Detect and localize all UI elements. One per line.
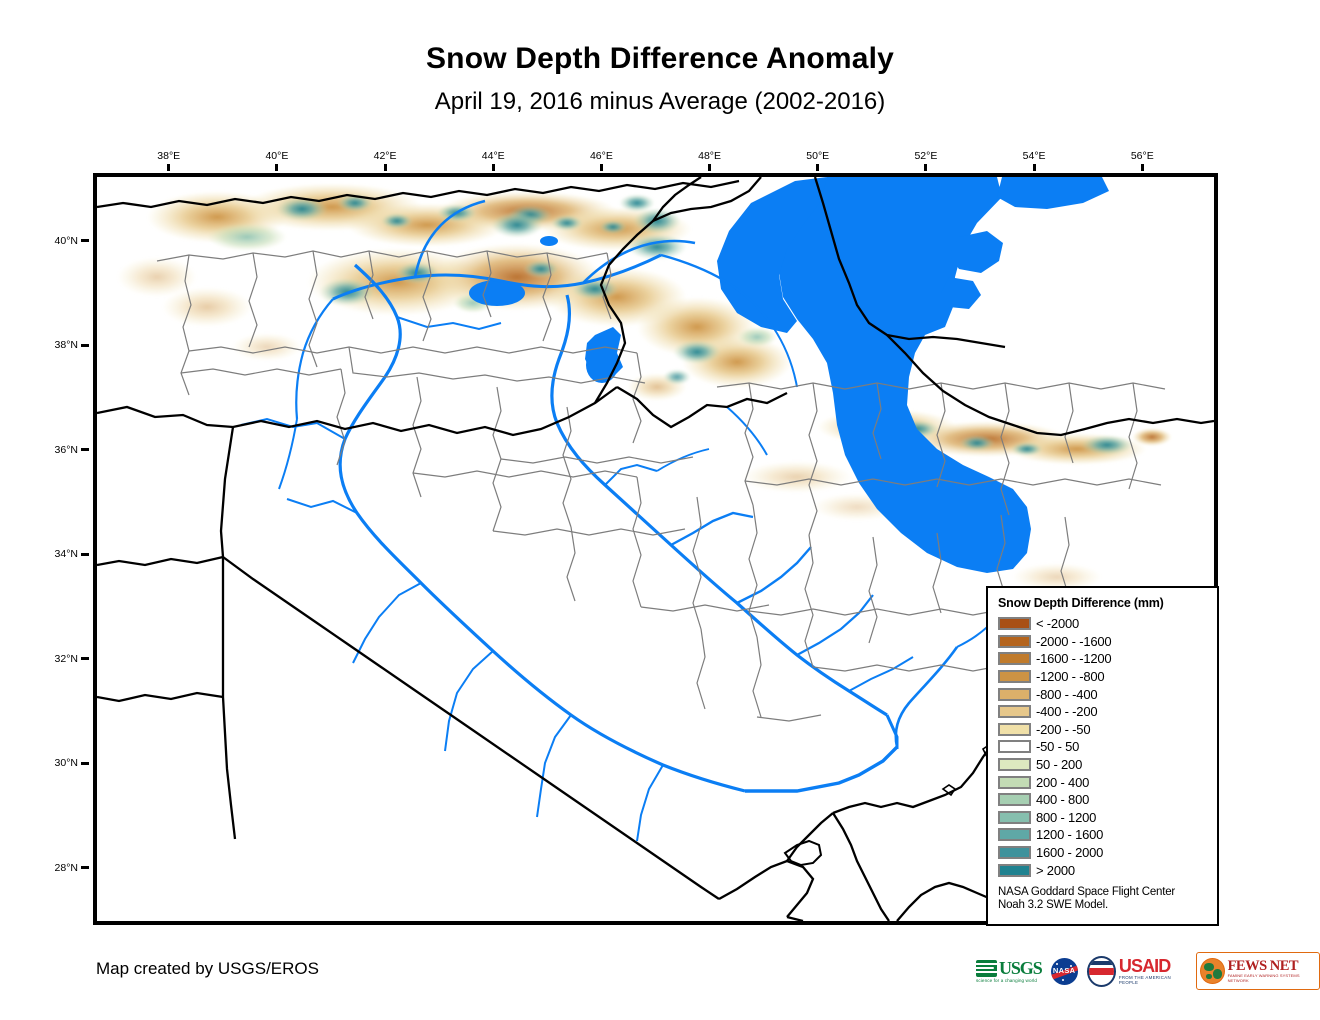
legend-row: 50 - 200: [998, 756, 1209, 774]
legend-swatch: [998, 705, 1031, 718]
lat-tick: 36°N: [37, 444, 89, 456]
lon-tick-label: 40°E: [254, 151, 300, 162]
nasa-meatball-icon: NASA: [1051, 958, 1078, 985]
legend-row: > 2000: [998, 861, 1209, 879]
legend-row: 400 - 800: [998, 791, 1209, 809]
lat-tick: 40°N: [37, 235, 89, 247]
legend-swatch: [998, 617, 1031, 630]
legend-row: < -2000: [998, 615, 1209, 633]
legend-swatch: [998, 864, 1031, 877]
usgs-logo: USGS science for a changing world: [976, 954, 1042, 988]
legend-class-list: < -2000-2000 - -1600-1600 - -1200-1200 -…: [998, 615, 1209, 879]
legend-swatch: [998, 828, 1031, 841]
legend-label: > 2000: [1036, 863, 1075, 878]
lon-tick-mark: [275, 164, 278, 171]
lat-tick-label: 36°N: [55, 444, 78, 456]
lat-tick: 32°N: [37, 653, 89, 665]
legend-title: Snow Depth Difference (mm): [998, 596, 1209, 610]
lat-tick-mark: [81, 657, 89, 660]
lon-tick: 54°E: [1011, 151, 1057, 171]
legend-swatch: [998, 635, 1031, 648]
lon-tick: 50°E: [795, 151, 841, 171]
nasa-wordmark: NASA: [1051, 966, 1078, 975]
legend-swatch: [998, 811, 1031, 824]
lon-tick-label: 56°E: [1119, 151, 1165, 162]
legend-row: -2000 - -1600: [998, 633, 1209, 651]
lat-tick: 30°N: [37, 757, 89, 769]
lat-tick-mark: [81, 866, 89, 869]
lon-tick-mark: [924, 164, 927, 171]
lat-tick-label: 28°N: [55, 862, 78, 874]
usgs-tagline: science for a changing world: [976, 978, 1037, 983]
legend-row: 800 - 1200: [998, 809, 1209, 827]
legend-source-line-1: NASA Goddard Space Flight Center: [998, 886, 1209, 900]
legend-swatch: [998, 688, 1031, 701]
legend-source-line-2: Noah 3.2 SWE Model.: [998, 899, 1209, 913]
legend-row: -200 - -50: [998, 721, 1209, 739]
legend-label: -400 - -200: [1036, 704, 1097, 719]
usaid-wordmark: USAID: [1119, 958, 1187, 975]
legend-swatch: [998, 652, 1031, 665]
legend-label: -800 - -400: [1036, 687, 1097, 702]
lon-tick-label: 54°E: [1011, 151, 1057, 162]
lon-tick: 48°E: [687, 151, 733, 171]
lat-tick-label: 38°N: [55, 339, 78, 351]
legend-swatch: [998, 846, 1031, 859]
legend-label: 800 - 1200: [1036, 810, 1096, 825]
lat-tick: 38°N: [37, 339, 89, 351]
legend-label: 200 - 400: [1036, 775, 1089, 790]
legend-row: -50 - 50: [998, 738, 1209, 756]
legend-label: -1200 - -800: [1036, 669, 1104, 684]
legend-row: -1600 - -1200: [998, 650, 1209, 668]
fews-globe-icon: [1200, 958, 1224, 984]
lat-tick-mark: [81, 553, 89, 556]
legend-label: -50 - 50: [1036, 739, 1079, 754]
lon-tick: 40°E: [254, 151, 300, 171]
lon-tick-label: 50°E: [795, 151, 841, 162]
lon-tick-label: 52°E: [903, 151, 949, 162]
legend-swatch: [998, 793, 1031, 806]
lat-tick-label: 32°N: [55, 653, 78, 665]
lon-tick-label: 44°E: [470, 151, 516, 162]
legend-row: 200 - 400: [998, 773, 1209, 791]
lon-tick-mark: [600, 164, 603, 171]
partner-logos: USGS science for a changing world NASA U…: [976, 952, 1320, 990]
lon-tick: 42°E: [362, 151, 408, 171]
lon-tick-label: 48°E: [687, 151, 733, 162]
legend-row: 1200 - 1600: [998, 826, 1209, 844]
fews-net-tagline: FAMINE EARLY WARNING SYSTEMS NETWORK: [1228, 973, 1316, 983]
legend-label: 400 - 800: [1036, 792, 1089, 807]
lon-tick-mark: [492, 164, 495, 171]
legend-label: < -2000: [1036, 616, 1079, 631]
legend-swatch: [998, 723, 1031, 736]
lat-tick-mark: [81, 762, 89, 765]
usaid-logo: USAID FROM THE AMERICAN PEOPLE: [1087, 954, 1187, 988]
legend-label: -2000 - -1600: [1036, 634, 1111, 649]
legend-label: 1600 - 2000: [1036, 845, 1103, 860]
lon-tick-mark: [384, 164, 387, 171]
usaid-seal-icon: [1087, 956, 1116, 987]
lon-tick: 56°E: [1119, 151, 1165, 171]
lat-tick-mark: [81, 344, 89, 347]
lon-tick: 44°E: [470, 151, 516, 171]
lat-tick-label: 30°N: [55, 757, 78, 769]
lon-tick-mark: [1033, 164, 1036, 171]
legend-label: -1600 - -1200: [1036, 651, 1111, 666]
map-credit: Map created by USGS/EROS: [96, 959, 319, 979]
lon-tick-mark: [167, 164, 170, 171]
legend-label: -200 - -50: [1036, 722, 1090, 737]
lon-tick-mark: [1141, 164, 1144, 171]
legend-swatch: [998, 740, 1031, 753]
legend-label: 1200 - 1600: [1036, 827, 1103, 842]
fews-net-wordmark: FEWS NET: [1228, 959, 1316, 973]
lon-tick: 38°E: [146, 151, 192, 171]
page-title: Snow Depth Difference Anomaly: [0, 42, 1320, 76]
legend-swatch: [998, 758, 1031, 771]
legend-source-note: NASA Goddard Space Flight Center Noah 3.…: [998, 886, 1209, 913]
lon-tick-label: 46°E: [578, 151, 624, 162]
legend-swatch: [998, 670, 1031, 683]
lon-tick-label: 38°E: [146, 151, 192, 162]
usaid-tagline: FROM THE AMERICAN PEOPLE: [1119, 975, 1187, 985]
fews-net-logo: FEWS NET FAMINE EARLY WARNING SYSTEMS NE…: [1196, 952, 1320, 990]
lon-tick: 52°E: [903, 151, 949, 171]
nasa-logo: NASA: [1051, 954, 1078, 988]
legend-row: -800 - -400: [998, 685, 1209, 703]
lon-tick: 46°E: [578, 151, 624, 171]
lon-tick-label: 42°E: [362, 151, 408, 162]
page-subtitle: April 19, 2016 minus Average (2002-2016): [0, 88, 1320, 116]
legend-swatch: [998, 776, 1031, 789]
usgs-wordmark: USGS: [999, 959, 1042, 977]
legend-row: -400 - -200: [998, 703, 1209, 721]
lat-tick: 28°N: [37, 862, 89, 874]
lon-tick-mark: [816, 164, 819, 171]
legend-label: 50 - 200: [1036, 757, 1082, 772]
legend-row: -1200 - -800: [998, 668, 1209, 686]
usgs-wave-icon: [976, 960, 997, 977]
lat-tick-mark: [81, 448, 89, 451]
map-legend: Snow Depth Difference (mm) < -2000-2000 …: [986, 586, 1219, 926]
legend-row: 1600 - 2000: [998, 844, 1209, 862]
lat-tick-mark: [81, 239, 89, 242]
lat-tick-label: 34°N: [55, 548, 78, 560]
lat-tick-label: 40°N: [55, 235, 78, 247]
lat-tick: 34°N: [37, 548, 89, 560]
lon-tick-mark: [708, 164, 711, 171]
